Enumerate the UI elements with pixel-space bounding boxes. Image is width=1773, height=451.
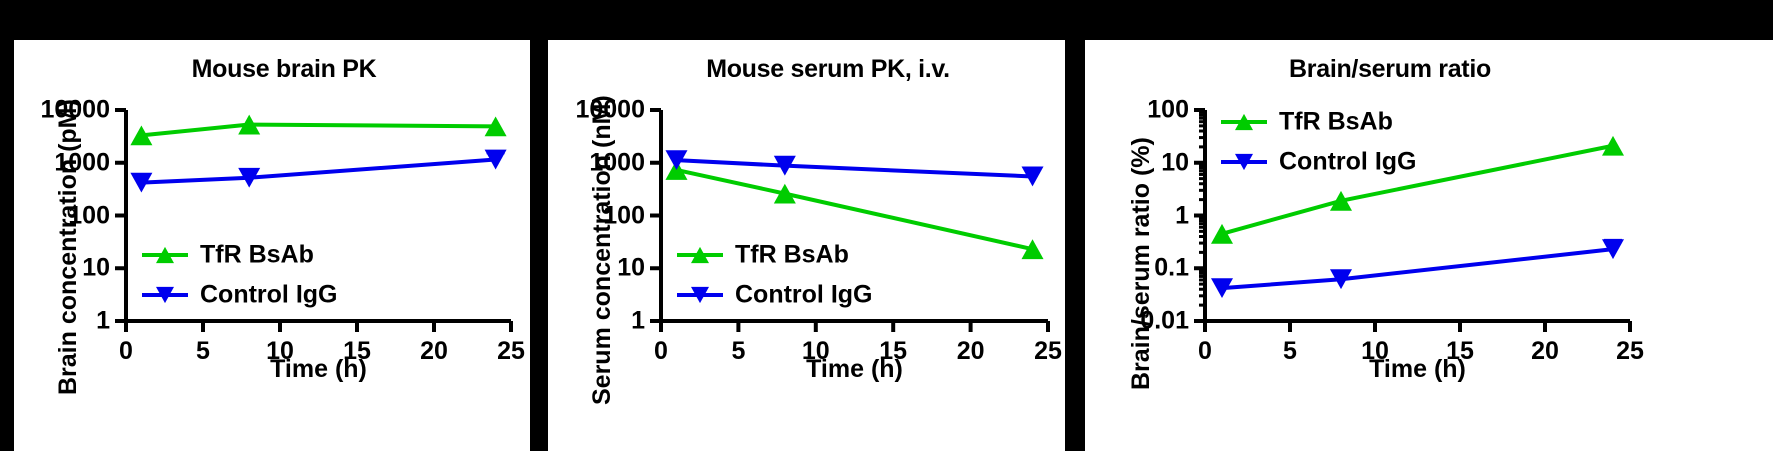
legend-item-label: Control IgG [1279,148,1416,177]
y-axis-tick-label: 10 [617,254,645,283]
legend-item-label: TfR BsAb [200,241,314,270]
y-axis-tick-label: 100 [68,201,110,230]
y-axis-tick-label: 1000 [54,148,110,177]
x-axis-tick-label: 0 [119,337,133,366]
y-axis-tick-label: 10000 [40,96,110,125]
y-axis-tick-label: 1 [1175,201,1189,230]
panel-brain-serum-ratio: Brain/serum ratio Brain/serum ratio (%) … [1085,40,1773,451]
x-axis-tick-label: 5 [731,337,745,366]
x-axis-tick-label: 10 [266,337,294,366]
x-axis-tick-label: 25 [497,337,525,366]
y-axis-tick-label: 100 [603,201,645,230]
x-axis-tick-label: 0 [1198,337,1212,366]
legend-item-label: TfR BsAb [1279,108,1393,137]
x-axis-tick-label: 20 [957,337,985,366]
legend-item-label: Control IgG [735,281,872,310]
figure-root: Mouse brain PK Brain concentration (pM) … [0,0,1773,451]
panel-inner: Mouse brain PK Brain concentration (pM) … [14,40,530,451]
x-axis-tick-label: 20 [1531,337,1559,366]
panel-inner: Brain/serum ratio Brain/serum ratio (%) … [1085,40,1773,451]
panel-mouse-serum-pk: Mouse serum PK, i.v. Serum concentration… [548,40,1065,451]
y-axis-tick-label: 10 [82,254,110,283]
legend-item-label: TfR BsAb [735,241,849,270]
panel-inner: Mouse serum PK, i.v. Serum concentration… [548,40,1065,451]
y-axis-tick-label: 1 [631,307,645,336]
y-axis-tick-label: 100 [1147,96,1189,125]
x-axis-tick-label: 5 [196,337,210,366]
x-axis-tick-label: 25 [1616,337,1644,366]
x-axis-tick-label: 15 [1446,337,1474,366]
x-axis-tick-label: 25 [1034,337,1062,366]
x-axis-tick-label: 10 [802,337,830,366]
x-axis-tick-label: 10 [1361,337,1389,366]
y-axis-tick-label: 0.1 [1154,254,1189,283]
x-axis-tick-label: 5 [1283,337,1297,366]
y-axis-tick-label: 1 [96,307,110,336]
y-axis-tick-label: 0.01 [1140,307,1189,336]
y-axis-tick-label: 10 [1161,148,1189,177]
x-axis-tick-label: 20 [420,337,448,366]
x-axis-tick-label: 15 [879,337,907,366]
x-axis-tick-label: 15 [343,337,371,366]
panel-mouse-brain-pk: Mouse brain PK Brain concentration (pM) … [14,40,530,451]
y-axis-tick-label: 10000 [575,96,645,125]
y-axis-tick-label: 1000 [589,148,645,177]
x-axis-tick-label: 0 [654,337,668,366]
legend-item-label: Control IgG [200,281,337,310]
